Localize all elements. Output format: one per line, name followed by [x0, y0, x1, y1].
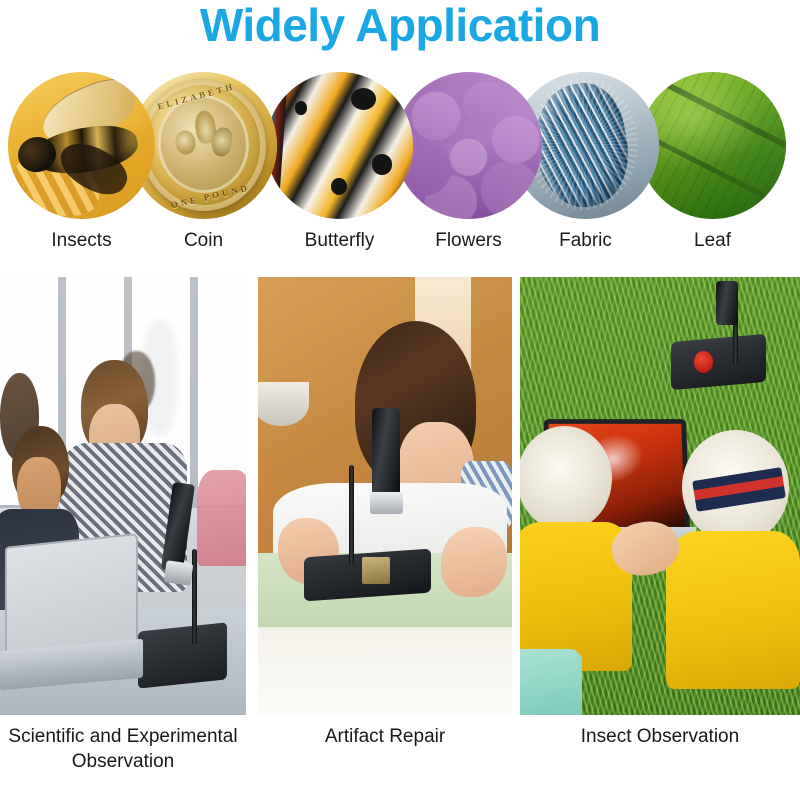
scene-caption-row: Scientific and Experimental Observation …	[0, 724, 800, 788]
microscope-lens	[163, 560, 193, 585]
butterfly-wing-icon	[266, 72, 413, 219]
microscope-body	[716, 281, 738, 325]
microscope-gooseneck	[192, 549, 197, 645]
caption-line-1: Scientific and Experimental	[8, 726, 237, 747]
microscope-base-pad	[138, 623, 227, 689]
child-shorts	[520, 649, 582, 715]
scene-caption-insect: Insect Observation	[520, 724, 800, 749]
purple-petals-icon	[395, 72, 542, 219]
insect-observation-scene	[520, 277, 800, 715]
scene-photo-row	[0, 277, 800, 715]
technician-right-hand	[441, 527, 507, 597]
leek-emblem	[210, 127, 234, 159]
butterfly-wing-pattern	[266, 72, 413, 219]
scene-caption-classroom: Scientific and Experimental Observation	[0, 724, 246, 774]
application-circle-butterfly	[266, 72, 413, 219]
artifact-repair-scene	[258, 277, 512, 715]
application-label-leaf: Leaf	[639, 228, 786, 254]
leaf-gloss	[639, 72, 786, 219]
rose-emblem	[174, 130, 197, 156]
application-label-coin: Coin	[130, 228, 277, 254]
application-label-row: Insects Coin Butterfly Flowers Fabric Le…	[0, 228, 800, 256]
application-circle-leaf	[639, 72, 786, 219]
application-label-butterfly: Butterfly	[266, 228, 413, 254]
scene-photo-classroom	[0, 277, 246, 715]
caption-line-2: Observation	[72, 751, 174, 772]
scene-photo-insect	[520, 277, 800, 715]
butterfly-spot	[372, 154, 393, 175]
scene-caption-artifact: Artifact Repair	[258, 724, 512, 749]
page-title: Widely Application	[0, 0, 800, 52]
bee-macro-icon	[8, 72, 155, 219]
application-circle-insects	[8, 72, 155, 219]
butterfly-spot	[331, 178, 347, 196]
fiber-fuzz	[527, 78, 639, 210]
microscope-lens	[370, 492, 403, 514]
petal-shading	[395, 72, 542, 219]
application-icon-row: ELIZABETH ONE POUND	[0, 72, 800, 222]
butterfly-spot	[295, 101, 307, 114]
microscope-base-pad	[671, 334, 766, 390]
artifact-specimen	[362, 557, 390, 583]
scene-photo-artifact	[258, 277, 512, 715]
microscope-gooseneck	[349, 465, 354, 566]
child-yellow-shirt-right	[666, 531, 800, 689]
application-label-fabric: Fabric	[512, 228, 659, 254]
application-circle-flowers	[395, 72, 542, 219]
microscope-body	[372, 408, 400, 496]
green-leaf-icon	[639, 72, 786, 219]
classroom-scene	[0, 277, 246, 715]
background-student-pink-shirt	[197, 470, 246, 566]
widely-application-infographic: Widely Application	[0, 0, 800, 791]
